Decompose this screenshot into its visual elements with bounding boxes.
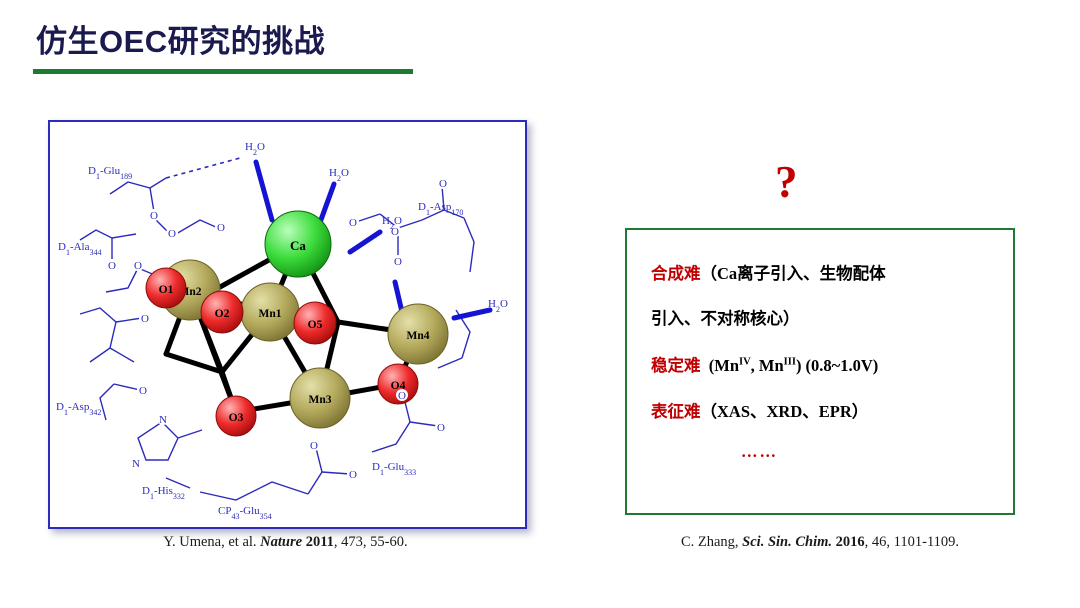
figure-caption-author: Y. Umena, et al. bbox=[163, 534, 260, 550]
ligand-oxygen-label: O bbox=[308, 439, 320, 452]
residue-label: D1-Asp342 bbox=[56, 401, 101, 417]
challenge-line-1: 合成难（Ca离子引入、生物配体 bbox=[651, 260, 886, 284]
atom-o1: O1 bbox=[146, 268, 186, 308]
water-label: H2O bbox=[245, 141, 265, 157]
reference-author: C. Zhang, bbox=[681, 534, 742, 550]
oec-structure-diagram: Ca Mn2 Mn1 Mn3 Mn4 O1 bbox=[50, 122, 521, 523]
svg-text:O: O bbox=[439, 178, 447, 190]
svg-text:O: O bbox=[398, 390, 406, 402]
water-label: H2O bbox=[329, 167, 349, 183]
challenges-box: 合成难（Ca离子引入、生物配体 引入、不对称核心） 稳定难 (MnIV, MnI… bbox=[625, 228, 1015, 515]
reference-year: 2016 bbox=[832, 534, 865, 550]
residue-label: D1-Asp170 bbox=[418, 201, 463, 217]
ligand-oxygen-label: O bbox=[347, 216, 359, 229]
ligand-oxygen-label: O bbox=[392, 255, 404, 268]
ligand-oxygen-label: O bbox=[347, 468, 359, 481]
slide-root: 仿生OEC研究的挑战 bbox=[0, 0, 1080, 608]
challenge-keyword: 表征难 bbox=[651, 402, 701, 421]
challenge-line-4: 表征难（XAS、XRD、EPR） bbox=[651, 398, 868, 422]
challenge-detail: (MnIV, MnIII) (0.8~1.0V) bbox=[701, 356, 879, 375]
ligand-nitrogen-label: N bbox=[130, 457, 142, 470]
challenge-detail: （Ca离子引入、生物配体 bbox=[701, 264, 886, 283]
reference-caption: C. Zhang, Sci. Sin. Chim. 2016, 46, 1101… bbox=[625, 534, 1015, 551]
residue-label: CP43-Glu354 bbox=[218, 505, 272, 521]
svg-text:O: O bbox=[139, 385, 147, 397]
atom-label-mn1: Mn1 bbox=[259, 308, 282, 320]
svg-text:O: O bbox=[168, 228, 176, 240]
figure-caption-rest: , 473, 55-60. bbox=[334, 534, 408, 550]
atom-label-mn3: Mn3 bbox=[309, 394, 332, 406]
atom-label-o5: O5 bbox=[308, 319, 323, 331]
ligand-oxygen-label: O bbox=[148, 209, 160, 222]
challenge-line-2: 引入、不对称核心） bbox=[651, 305, 800, 329]
svg-text:O: O bbox=[349, 469, 357, 481]
atom-label-mn4: Mn4 bbox=[407, 330, 430, 342]
svg-text:O: O bbox=[141, 313, 149, 325]
atom-mn4: Mn4 bbox=[388, 304, 448, 364]
challenge-keyword: 稳定难 bbox=[651, 356, 701, 375]
atom-label-ca: Ca bbox=[290, 238, 306, 253]
title-underline bbox=[33, 69, 413, 74]
atom-o2: O2 bbox=[201, 291, 243, 333]
residue-label: D1-Ala344 bbox=[58, 241, 102, 257]
atom-mn3: Mn3 bbox=[290, 368, 350, 428]
ligand-oxygen-label: O bbox=[166, 227, 178, 240]
atom-mn1: Mn1 bbox=[241, 283, 299, 341]
atom-o5: O5 bbox=[294, 302, 336, 344]
residue-label: D1-Glu333 bbox=[372, 461, 416, 477]
svg-text:N: N bbox=[159, 414, 167, 426]
atom-label-o1: O1 bbox=[159, 284, 174, 296]
svg-text:O: O bbox=[217, 222, 225, 234]
ligand-oxygen-label: O bbox=[437, 177, 449, 190]
challenge-line-5: …… bbox=[741, 442, 778, 462]
atom-label-o2: O2 bbox=[215, 308, 230, 320]
svg-text:O: O bbox=[310, 440, 318, 452]
ligand-nitrogen-label: N bbox=[157, 413, 169, 426]
page-title: 仿生OEC研究的挑战 bbox=[36, 16, 325, 61]
oec-structure-figure: Ca Mn2 Mn1 Mn3 Mn4 O1 bbox=[48, 120, 527, 529]
figure-caption-year: 2011 bbox=[302, 534, 334, 550]
question-mark: ? bbox=[775, 160, 798, 205]
ligand-oxygen-label: O bbox=[106, 259, 118, 272]
reference-rest: , 46, 1101-1109. bbox=[865, 534, 959, 550]
challenge-keyword: 合成难 bbox=[651, 264, 701, 283]
svg-text:N: N bbox=[132, 458, 140, 470]
ligand-oxygen-label: O bbox=[215, 221, 227, 234]
atom-label-o3: O3 bbox=[229, 412, 244, 424]
svg-text:O: O bbox=[108, 260, 116, 272]
reference-journal: Sci. Sin. Chim. bbox=[742, 534, 832, 550]
challenge-line-3: 稳定难 (MnIV, MnIII) (0.8~1.0V) bbox=[651, 352, 878, 376]
atom-o3: O3 bbox=[216, 396, 256, 436]
atom-ca: Ca bbox=[265, 211, 331, 277]
ligand-oxygen-label: O bbox=[435, 421, 447, 434]
svg-text:O: O bbox=[437, 422, 445, 434]
residue-label: D1-His332 bbox=[142, 485, 185, 501]
challenge-detail: （XAS、XRD、EPR） bbox=[701, 402, 869, 421]
ligand-oxygen-label: O bbox=[137, 384, 149, 397]
svg-text:O: O bbox=[394, 256, 402, 268]
svg-text:O: O bbox=[150, 210, 158, 222]
residue-label: D1-Glu189 bbox=[88, 165, 132, 181]
svg-text:O: O bbox=[349, 217, 357, 229]
svg-text:O: O bbox=[134, 260, 142, 272]
figure-caption-journal: Nature bbox=[260, 534, 302, 550]
ligand-oxygen-label: O bbox=[139, 312, 151, 325]
challenge-detail: 引入、不对称核心） bbox=[651, 309, 800, 328]
figure-caption: Y. Umena, et al. Nature 2011, 473, 55-60… bbox=[48, 534, 523, 551]
